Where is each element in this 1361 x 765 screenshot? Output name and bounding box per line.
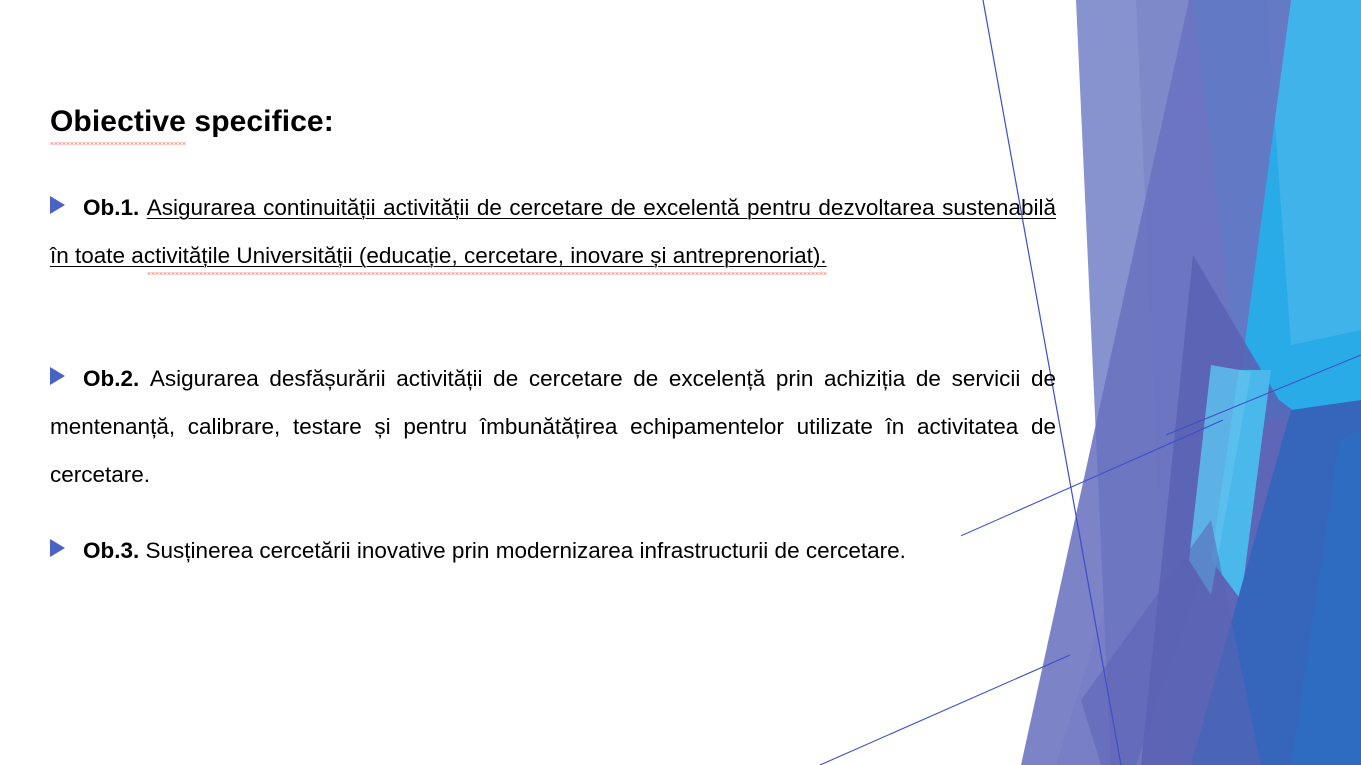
- bullet-1-marker: Ob.1.: [83, 195, 139, 220]
- shape-blue-royal-edge: [1291, 430, 1361, 765]
- triangle-bullet-icon: [50, 196, 65, 214]
- slide-canvas: Obiective specifice: Ob.1. Asigurarea co…: [0, 0, 1361, 765]
- bullet-1-text: Asigurarea continuității activității de …: [50, 195, 1056, 268]
- bullet-item-1: Ob.1. Asigurarea continuității activităț…: [50, 184, 1056, 280]
- bullet-1-space: [139, 195, 147, 220]
- shape-periwinkle-mid: [1136, 0, 1361, 765]
- shape-blue-deep-right: [1191, 400, 1361, 765]
- triangle-bullet-icon: [50, 367, 65, 385]
- bullet-2-text: Asigurarea desfășurării activității de c…: [50, 366, 1056, 487]
- shape-cyan-sliver: [1211, 370, 1271, 600]
- page-title: Obiective specifice:: [50, 105, 334, 139]
- page-title-misspelled-word: Obiective: [50, 105, 186, 138]
- shape-cyan-right: [1193, 0, 1361, 420]
- hairline-diagonal-short: [1166, 355, 1361, 435]
- shape-cyan-sliver-2: [1189, 365, 1251, 595]
- shape-indigo-bottom: [1081, 520, 1261, 765]
- bullet-3-marker: Ob.3.: [83, 538, 139, 563]
- bullet-2-marker: Ob.2.: [83, 366, 139, 391]
- bullet-item-3: Ob.3. Susținerea cercetării inovative pr…: [50, 527, 1056, 575]
- shape-lavender-light: [1111, 0, 1361, 765]
- bullet-3-text: Susținerea cercetării inovative prin mod…: [146, 538, 906, 563]
- bullet-2-space: [139, 366, 150, 391]
- shape-periwinkle-top: [1076, 0, 1361, 765]
- shape-cyan-pale-right: [1266, 0, 1361, 345]
- shape-indigo-wedge: [1141, 255, 1361, 765]
- slide-content: Obiective specifice: Ob.1. Asigurarea co…: [50, 0, 1056, 765]
- triangle-bullet-icon: [50, 539, 65, 557]
- bullet-item-2: Ob.2. Asigurarea desfășurării activități…: [50, 355, 1056, 499]
- page-title-rest: specifice:: [186, 105, 334, 138]
- shape-lavender-pale-left: [1056, 0, 1361, 765]
